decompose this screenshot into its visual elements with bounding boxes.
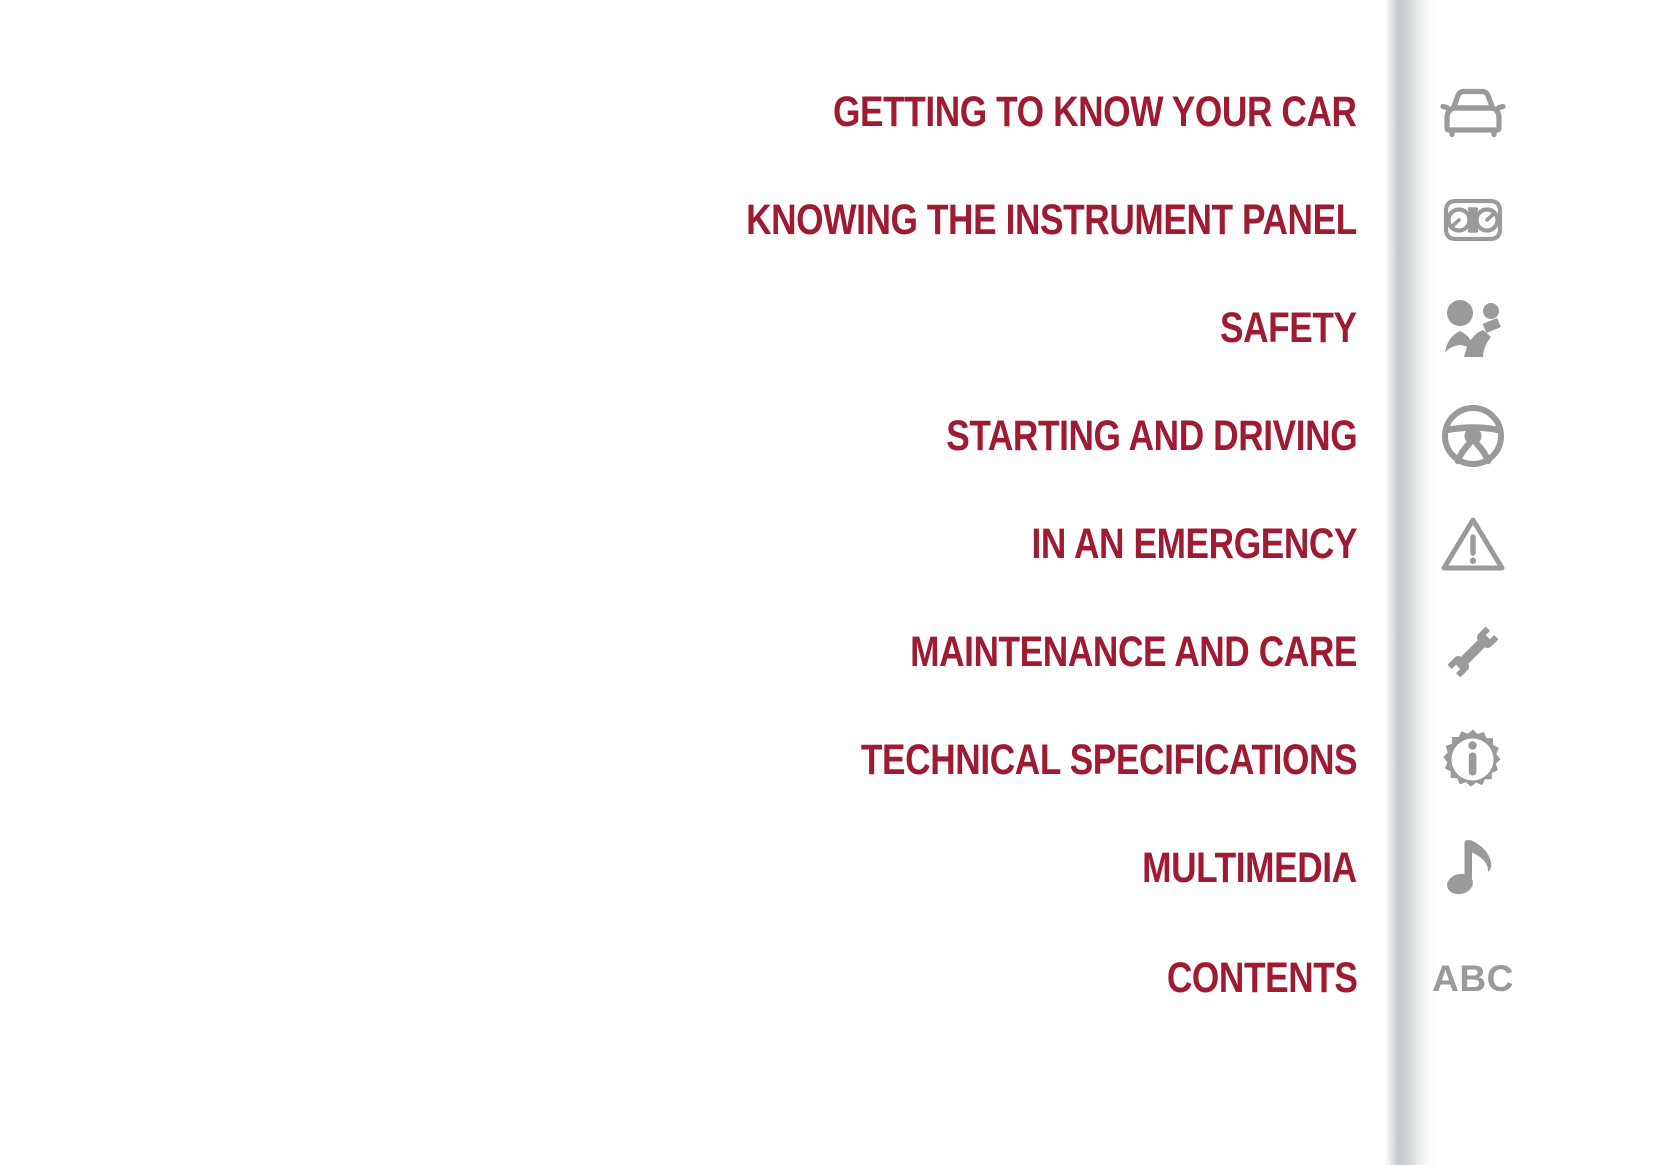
- section-menu-list: GETTING TO KNOW YOUR CAR KNOWING THE INS…: [0, 0, 1653, 1165]
- menu-row-safety[interactable]: SAFETY: [0, 274, 1653, 382]
- car-front-icon: [1437, 58, 1509, 166]
- instrument-panel-icon: [1437, 166, 1509, 274]
- wrench-icon: [1437, 598, 1509, 706]
- menu-row-in-an-emergency[interactable]: IN AN EMERGENCY: [0, 490, 1653, 598]
- menu-label-starting-and-driving[interactable]: STARTING AND DRIVING: [946, 382, 1357, 490]
- menu-label-safety[interactable]: SAFETY: [1220, 274, 1357, 382]
- menu-label-technical-specifications[interactable]: TECHNICAL SPECIFICATIONS: [861, 706, 1357, 814]
- manual-section-index-page: GETTING TO KNOW YOUR CAR KNOWING THE INS…: [0, 0, 1653, 1165]
- menu-label-maintenance-and-care[interactable]: MAINTENANCE AND CARE: [910, 598, 1357, 706]
- menu-row-starting-and-driving[interactable]: STARTING AND DRIVING: [0, 382, 1653, 490]
- menu-label-contents[interactable]: CONTENTS: [1166, 924, 1357, 1032]
- airbag-occupant-icon: [1437, 274, 1509, 382]
- menu-label-in-an-emergency[interactable]: IN AN EMERGENCY: [1031, 490, 1357, 598]
- menu-label-knowing-the-instrument-panel[interactable]: KNOWING THE INSTRUMENT PANEL: [746, 166, 1357, 274]
- abc-icon-label: ABC: [1432, 960, 1514, 997]
- menu-row-getting-to-know-your-car[interactable]: GETTING TO KNOW YOUR CAR: [0, 58, 1653, 166]
- steering-wheel-icon: [1437, 382, 1509, 490]
- gear-info-icon: [1437, 706, 1509, 814]
- warning-triangle-icon: [1437, 490, 1509, 598]
- menu-label-multimedia[interactable]: MULTIMEDIA: [1142, 814, 1357, 922]
- menu-row-technical-specifications[interactable]: TECHNICAL SPECIFICATIONS: [0, 706, 1653, 814]
- menu-row-contents[interactable]: CONTENTS ABC: [0, 924, 1653, 1032]
- music-note-icon: [1437, 814, 1509, 922]
- menu-label-getting-to-know-your-car[interactable]: GETTING TO KNOW YOUR CAR: [833, 58, 1357, 166]
- menu-row-maintenance-and-care[interactable]: MAINTENANCE AND CARE: [0, 598, 1653, 706]
- menu-row-multimedia[interactable]: MULTIMEDIA: [0, 814, 1653, 922]
- menu-row-knowing-the-instrument-panel[interactable]: KNOWING THE INSTRUMENT PANEL: [0, 166, 1653, 274]
- abc-icon: ABC: [1437, 924, 1509, 1032]
